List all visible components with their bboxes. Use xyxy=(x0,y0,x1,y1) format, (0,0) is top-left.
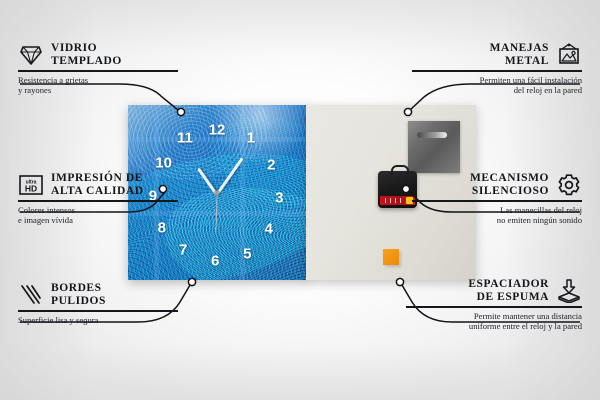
callout-espaciador-espuma: ESPACIADOR DE ESPUMA Permite mantener un… xyxy=(406,278,582,331)
infographic-canvas: 12 1 2 3 4 5 6 7 8 9 10 11 xyxy=(0,0,600,400)
foam-spacer-icon xyxy=(556,279,582,303)
callout-desc-line1: Permiten una fácil instalación xyxy=(412,75,582,85)
diamond-icon xyxy=(18,43,44,67)
callout-desc-line2: del reloj en la pared xyxy=(412,85,582,95)
foam-spacer-pad xyxy=(383,249,399,265)
clock-minute-hand xyxy=(216,157,244,195)
callout-desc-line1: Superficie lisa y segura xyxy=(18,315,178,325)
clock-numeral-4: 4 xyxy=(264,222,272,237)
callout-rule xyxy=(18,200,178,202)
callout-title-line2: TEMPLADO xyxy=(51,55,122,68)
callout-desc-line1: Colores intensos xyxy=(18,205,178,215)
battery-tick xyxy=(395,198,396,203)
callout-bordes-pulidos: BORDES PULIDOS Superficie lisa y segura xyxy=(18,282,178,325)
callout-header: MANEJAS METAL xyxy=(412,42,582,68)
callout-header: ESPACIADOR DE ESPUMA xyxy=(406,278,582,304)
metal-hanger-plate-icon xyxy=(408,121,460,173)
callout-header: VIDRIO TEMPLADO xyxy=(18,42,178,68)
battery-tick xyxy=(400,198,401,203)
callout-desc-line2: y rayones xyxy=(18,85,178,95)
callout-desc-line1: Las manecillas del reloj xyxy=(412,205,582,215)
clock-numeral-7: 7 xyxy=(179,243,187,258)
callout-title-line2: DE ESPUMA xyxy=(468,291,549,304)
clock-second-hand xyxy=(215,193,218,233)
callout-rule xyxy=(18,310,178,312)
wave-pattern-2 xyxy=(157,176,308,280)
callout-impresion-alta-calidad: ultra HD IMPRESIÓN DE ALTA CALIDAD Color… xyxy=(18,172,178,225)
callout-title-line1: IMPRESIÓN DE xyxy=(51,172,144,185)
callout-title-line1: MANEJAS xyxy=(490,42,549,55)
clock-numeral-2: 2 xyxy=(267,157,275,172)
callout-title-line2: ALTA CALIDAD xyxy=(51,185,144,198)
callout-vidrio-templado: VIDRIO TEMPLADO Resistencia a grietas y … xyxy=(18,42,178,95)
callout-title-line2: METAL xyxy=(490,55,549,68)
callout-title-line1: ESPACIADOR xyxy=(468,278,549,291)
hanger-slot xyxy=(417,132,447,138)
battery-tick xyxy=(390,198,391,203)
ultra-hd-icon: ultra HD xyxy=(18,173,44,197)
callout-rule xyxy=(18,70,178,72)
hanging-picture-icon xyxy=(556,43,582,67)
gear-icon xyxy=(556,173,582,197)
callout-rule xyxy=(412,200,582,202)
callout-title-line2: PULIDOS xyxy=(51,295,106,308)
callout-desc-line2: no emiten ningún sonido xyxy=(412,215,582,225)
clock-numeral-10: 10 xyxy=(155,155,172,170)
callout-manejas-metal: MANEJAS METAL Permiten una fácil instala… xyxy=(412,42,582,95)
battery-tick xyxy=(385,198,386,203)
clock-numeral-1: 1 xyxy=(247,131,255,146)
clock-numeral-11: 11 xyxy=(177,131,193,146)
callout-desc-line1: Resistencia a grietas xyxy=(18,75,178,85)
clock-numeral-12: 12 xyxy=(209,122,226,137)
svg-text:HD: HD xyxy=(25,184,37,194)
callout-header: ultra HD IMPRESIÓN DE ALTA CALIDAD xyxy=(18,172,178,198)
callout-header: MECANISMO SILENCIOSO xyxy=(412,172,582,198)
clock-numeral-5: 5 xyxy=(243,246,251,261)
callout-title-line1: VIDRIO xyxy=(51,42,122,55)
callout-header: BORDES PULIDOS xyxy=(18,282,178,308)
polished-edges-icon xyxy=(18,283,44,307)
callout-desc-line1: Permite mantener una distancia xyxy=(406,311,582,321)
clock-numeral-3: 3 xyxy=(275,190,283,205)
callout-title-line2: SILENCIOSO xyxy=(470,185,549,198)
mechanism-hook xyxy=(391,165,409,175)
callout-desc-line2: e imagen vívida xyxy=(18,215,178,225)
callout-rule xyxy=(412,70,582,72)
callout-title-line1: BORDES xyxy=(51,282,106,295)
callout-desc-line2: uniforme entre el reloj y la pared xyxy=(406,321,582,331)
callout-rule xyxy=(406,306,582,308)
callout-mecanismo-silencioso: MECANISMO SILENCIOSO Las manecillas del … xyxy=(412,172,582,225)
battery-label xyxy=(380,196,415,205)
clock-center-cap xyxy=(215,190,220,195)
clock-numeral-6: 6 xyxy=(211,253,219,268)
callout-title-line1: MECANISMO xyxy=(470,172,549,185)
